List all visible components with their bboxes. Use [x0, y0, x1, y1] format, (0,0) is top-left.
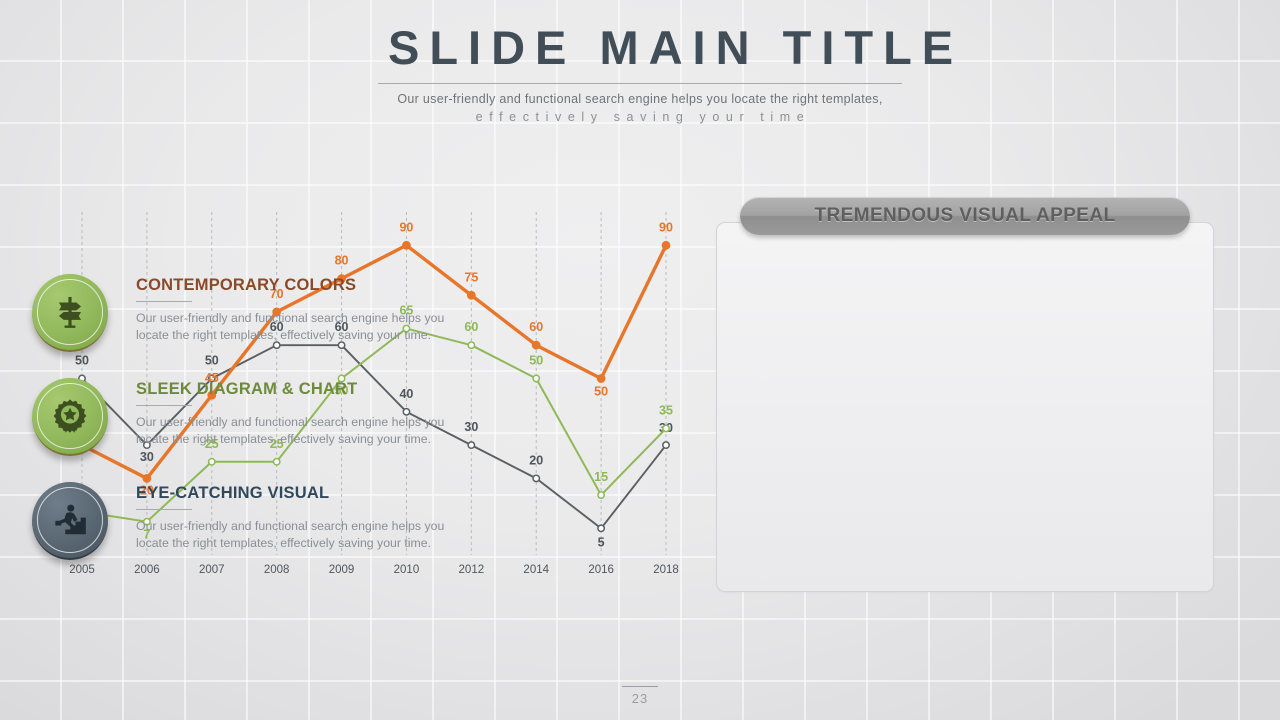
- signpost-icon-circle: [32, 274, 108, 352]
- chart-point-label: 60: [529, 320, 543, 334]
- feature-item-eye-catching-visual[interactable]: EYE-CATCHING VISUAL Our user-friendly an…: [32, 482, 472, 574]
- chart-data-point[interactable]: [598, 525, 604, 531]
- page-number: 23: [0, 691, 1280, 706]
- chart-data-point[interactable]: [663, 425, 669, 431]
- feature-title: EYE-CATCHING VISUAL: [136, 484, 472, 503]
- subtitle-line-2: effectively saving your time: [378, 108, 902, 126]
- slide-header: SLIDE MAIN TITLE Our user-friendly and f…: [378, 22, 902, 126]
- feature-divider: [136, 509, 192, 510]
- feature-divider: [136, 405, 192, 406]
- chart-data-point[interactable]: [662, 242, 669, 249]
- features-panel-header-label: TREMENDOUS VISUAL APPEAL: [815, 205, 1116, 227]
- chart-data-point[interactable]: [598, 492, 604, 498]
- slide: SLIDE MAIN TITLE Our user-friendly and f…: [0, 0, 1280, 720]
- chart-point-label: 50: [529, 354, 543, 368]
- feature-description: Our user-friendly and functional search …: [136, 414, 472, 449]
- award-ribbon-icon: [51, 397, 89, 435]
- feature-divider: [136, 301, 192, 302]
- chart-point-label: 90: [659, 220, 673, 234]
- chart-data-point[interactable]: [598, 375, 605, 382]
- chart-point-label: 90: [399, 220, 413, 234]
- feature-item-sleek-diagram-chart[interactable]: SLEEK DIAGRAM & CHART Our user-friendly …: [32, 378, 472, 470]
- chart-data-point[interactable]: [533, 475, 539, 481]
- chart-point-label: 5: [598, 535, 605, 549]
- chart-point-label: 35: [659, 403, 673, 417]
- x-axis-tick-label: 2018: [653, 564, 679, 576]
- features-panel: [716, 222, 1214, 592]
- feature-title: CONTEMPORARY COLORS: [136, 276, 472, 295]
- footer-divider: [622, 686, 658, 687]
- feature-description: Our user-friendly and functional search …: [136, 310, 472, 345]
- slide-footer: 23: [0, 686, 1280, 706]
- feature-title: SLEEK DIAGRAM & CHART: [136, 380, 472, 399]
- feature-text-block: SLEEK DIAGRAM & CHART Our user-friendly …: [136, 380, 472, 449]
- business-person-stairs-icon: [51, 501, 89, 539]
- features-panel-header: TREMENDOUS VISUAL APPEAL: [740, 197, 1190, 235]
- chart-data-point[interactable]: [143, 475, 150, 482]
- feature-text-block: EYE-CATCHING VISUAL Our user-friendly an…: [136, 484, 472, 553]
- chart-point-label: 20: [529, 453, 543, 467]
- chart-data-point[interactable]: [533, 375, 539, 381]
- business-person-stairs-icon-circle: [32, 482, 108, 560]
- subtitle-line-1: Our user-friendly and functional search …: [378, 90, 902, 108]
- chart-data-point[interactable]: [663, 442, 669, 448]
- x-axis-tick-label: 2016: [588, 564, 614, 576]
- feature-text-block: CONTEMPORARY COLORS Our user-friendly an…: [136, 276, 472, 345]
- page-title: SLIDE MAIN TITLE: [378, 22, 902, 75]
- signpost-icon: [51, 293, 89, 331]
- chart-point-label: 15: [594, 470, 608, 484]
- chart-point-label: 80: [335, 254, 349, 268]
- title-divider: [378, 83, 902, 84]
- chart-data-point[interactable]: [533, 342, 540, 349]
- chart-data-point[interactable]: [403, 242, 410, 249]
- feature-item-contemporary-colors[interactable]: CONTEMPORARY COLORS Our user-friendly an…: [32, 274, 472, 366]
- feature-description: Our user-friendly and functional search …: [136, 518, 472, 553]
- chart-point-label: 50: [594, 385, 608, 399]
- award-ribbon-icon-circle: [32, 378, 108, 456]
- x-axis-tick-label: 2014: [523, 564, 549, 576]
